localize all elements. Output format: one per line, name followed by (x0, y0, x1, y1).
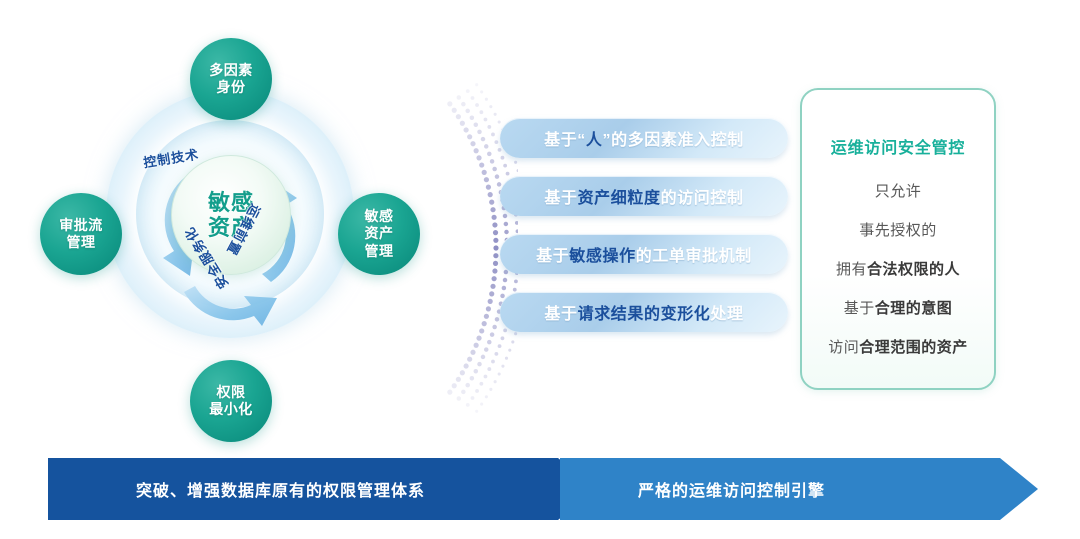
control-measure-item-2[interactable]: 基于资产细粒度的访问控制 (500, 176, 788, 216)
panel-line-5-pre: 访问 (828, 339, 859, 356)
ring-core-circle: 敏感 资产 (171, 155, 291, 275)
pill-4-pre: 基于 (544, 300, 577, 324)
pill-3-pre: 基于 (536, 242, 569, 266)
bottom-banner: 突破、增强数据库原有的权限管理体系 严格的运维访问控制引擎 (48, 458, 1038, 520)
panel-line-1-pre: 只允许 (875, 183, 922, 200)
bubble-least-privilege[interactable]: 权限 最小化 (190, 360, 272, 442)
control-measure-item-4[interactable]: 基于请求结果的变形化处理 (500, 292, 788, 332)
bubble-multi-factor-identity[interactable]: 多因素 身份 (190, 38, 272, 120)
ring-cluster: 敏感 资产 控制技术 运维前置 安全服务化 多因素 身份 审批流 管理 敏感 资… (38, 28, 418, 428)
pill-3-post: 的工单审批机制 (636, 242, 752, 266)
control-measure-item-1[interactable]: 基于“人”的多因素准入控制 (500, 118, 788, 158)
bubble-bottom-line2: 最小化 (209, 401, 253, 418)
ops-access-security-panel: 运维访问安全管控 只允许 事先授权的 拥有合法权限的人 基于合理的意图 访问合理… (800, 88, 996, 390)
bubble-left-line1: 审批流 (59, 217, 103, 234)
bubble-right-line1: 敏感 (365, 208, 394, 225)
pill-1-pre: 基于“ (544, 126, 586, 150)
pill-2-post: 的访问控制 (661, 184, 744, 208)
pill-1-highlight: 人 (586, 126, 603, 150)
panel-line-2: 事先授权的 (859, 219, 937, 240)
panel-line-5: 访问合理范围的资产 (828, 336, 968, 357)
panel-line-3: 拥有合法权限的人 (836, 258, 960, 279)
pill-4-post: 处理 (710, 300, 743, 324)
panel-line-4: 基于合理的意图 (844, 297, 953, 318)
panel-line-4-highlight: 合理的意图 (875, 300, 953, 317)
bubble-left-line2: 管理 (59, 234, 103, 251)
bubble-top-line1: 多因素 (209, 62, 253, 79)
bubble-right-line2: 资产 (365, 225, 394, 242)
pill-3-highlight: 敏感操作 (569, 242, 635, 266)
banner-right-label: 严格的运维访问控制引擎 (638, 477, 825, 501)
panel-line-3-highlight: 合法权限的人 (867, 261, 960, 278)
panel-line-3-pre: 拥有 (836, 261, 867, 278)
panel-line-5-highlight: 合理范围的资产 (859, 339, 968, 356)
bubble-right-line3: 管理 (365, 243, 394, 260)
bubble-approval-flow-management[interactable]: 审批流 管理 (40, 193, 122, 275)
panel-line-4-pre: 基于 (844, 300, 875, 317)
pill-2-pre: 基于 (544, 184, 577, 208)
bubble-bottom-line1: 权限 (209, 384, 253, 401)
panel-line-1: 只允许 (875, 180, 922, 201)
bubble-top-line2: 身份 (209, 79, 253, 96)
pill-2-highlight: 资产细粒度 (578, 184, 661, 208)
panel-title: 运维访问安全管控 (831, 134, 965, 158)
banner-left-label: 突破、增强数据库原有的权限管理体系 (136, 477, 425, 501)
diagram-canvas: 敏感 资产 控制技术 运维前置 安全服务化 多因素 身份 审批流 管理 敏感 资… (0, 0, 1080, 539)
panel-line-2-pre: 事先授权的 (859, 222, 937, 239)
pill-4-highlight: 请求结果的变形化 (578, 300, 711, 324)
pill-1-post: ”的多因素准入控制 (603, 126, 744, 150)
control-measure-item-3[interactable]: 基于敏感操作的工单审批机制 (500, 234, 788, 274)
control-measures-list: 基于“人”的多因素准入控制 基于资产细粒度的访问控制 基于敏感操作的工单审批机制… (500, 118, 788, 350)
